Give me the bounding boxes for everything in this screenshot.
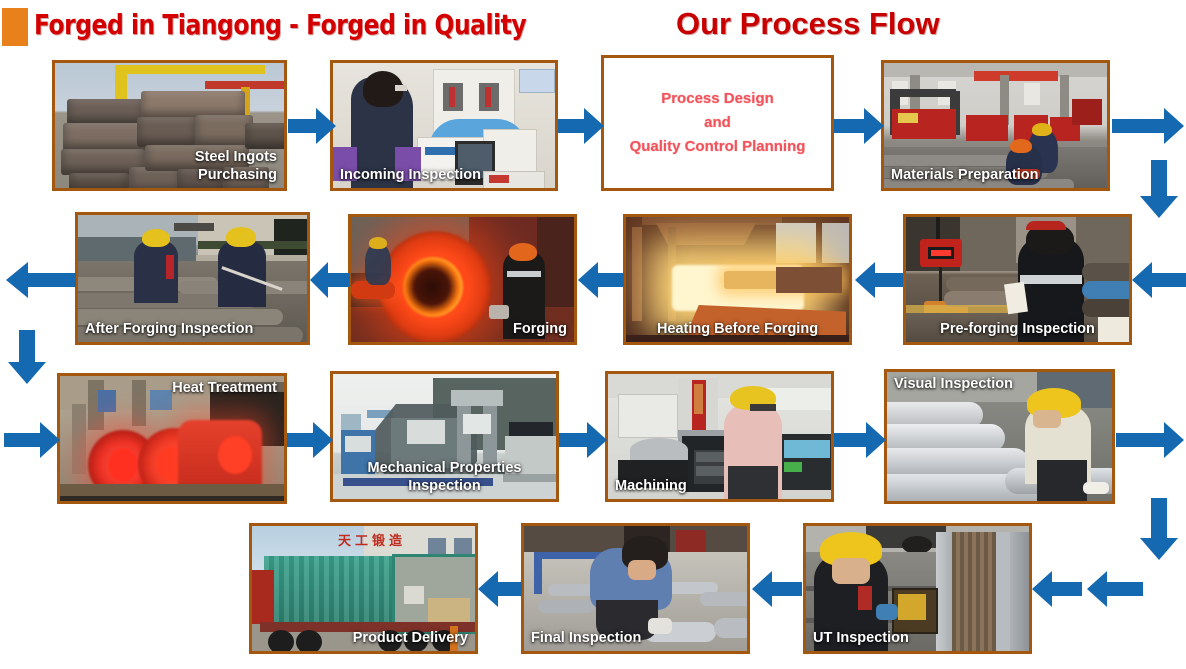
step-heating-before-forging[interactable]: Heating Before Forging: [623, 214, 852, 345]
step-process-design[interactable]: Process Design and Quality Control Plann…: [601, 55, 834, 191]
arrow-down-left-row2-row3: [8, 330, 46, 384]
arrow-left-afterforging-out: [6, 262, 76, 298]
step-materials-preparation[interactable]: Materials Preparation: [881, 60, 1110, 191]
page-title-right: Our Process Flow: [676, 6, 940, 42]
caption-product-delivery: Product Delivery: [353, 629, 468, 647]
arrow-right-visual-out: [1116, 422, 1184, 458]
step-product-delivery[interactable]: 天工锻造 Product Delivery: [249, 523, 478, 654]
caption-forging: Forging: [513, 320, 567, 338]
step-after-forging-inspection[interactable]: After Forging Inspection: [75, 212, 310, 345]
arrow-right-heat-to-mechanical: [287, 422, 333, 458]
step-mechanical-properties-inspection[interactable]: Mechanical Properties Inspection: [330, 371, 559, 502]
caption-heating-before-forging: Heating Before Forging: [626, 320, 849, 338]
arrow-right-mechanical-to-machining: [559, 422, 607, 458]
step-forging[interactable]: Forging: [348, 214, 577, 345]
arrow-right-into-heat-treatment: [4, 422, 60, 458]
process-flow-diagram: Forged in Tiangong - Forged in Quality O…: [0, 0, 1186, 669]
caption-machining: Machining: [615, 477, 687, 495]
caption-incoming-inspection: Incoming Inspection: [340, 166, 481, 184]
step-visual-inspection[interactable]: Visual Inspection: [884, 369, 1115, 504]
arrow-right-materials-out: [1112, 108, 1184, 144]
accent-swatch: [2, 8, 28, 46]
arrow-left-into-preforging: [1132, 262, 1186, 298]
caption-after-forging-inspection: After Forging Inspection: [85, 320, 253, 338]
caption-steel-ingots-purchasing: Steel Ingots Purchasing: [195, 148, 277, 184]
caption-pre-forging-inspection: Pre-forging Inspection: [906, 320, 1129, 338]
caption-heat-treatment: Heat Treatment: [172, 379, 277, 397]
caption-final-inspection: Final Inspection: [531, 629, 641, 647]
caption-ut-inspection: UT Inspection: [813, 629, 909, 647]
caption-mechanical-properties-inspection: Mechanical Properties Inspection: [333, 459, 556, 495]
step-final-inspection[interactable]: Final Inspection: [521, 523, 750, 654]
step-heat-treatment[interactable]: Heat Treatment: [57, 373, 287, 504]
arrow-left-heating-to-forging: [578, 262, 624, 298]
arrow-right-design-to-materials: [834, 108, 884, 144]
arrow-down-right-row1-row2: [1140, 160, 1178, 218]
arrow-left-into-ut-inspection: [1032, 571, 1082, 607]
page-title-left: Forged in Tiangong - Forged in Quality: [34, 8, 526, 41]
arrow-left-row4-edge: [1087, 571, 1143, 607]
arrow-right-incoming-to-design: [558, 108, 604, 144]
step-steel-ingots-purchasing[interactable]: Steel Ingots Purchasing: [52, 60, 287, 191]
arrow-left-preforging-to-heating: [855, 262, 903, 298]
arrow-left-forging-to-afterforging: [310, 262, 350, 298]
arrow-right-machining-to-visual: [834, 422, 886, 458]
arrow-down-right-row3-row4: [1140, 498, 1178, 560]
arrow-left-final-to-delivery: [478, 571, 522, 607]
step-ut-inspection[interactable]: UT Inspection: [803, 523, 1032, 654]
arrow-right-ingots-to-incoming: [288, 108, 336, 144]
arrow-left-ut-to-final: [752, 571, 802, 607]
caption-visual-inspection: Visual Inspection: [894, 375, 1013, 393]
caption-materials-preparation: Materials Preparation: [891, 166, 1038, 184]
step-pre-forging-inspection[interactable]: Pre-forging Inspection: [903, 214, 1132, 345]
step-machining[interactable]: Machining: [605, 371, 834, 502]
process-design-text: Process Design and Quality Control Plann…: [630, 87, 806, 159]
step-incoming-inspection[interactable]: Incoming Inspection: [330, 60, 558, 191]
